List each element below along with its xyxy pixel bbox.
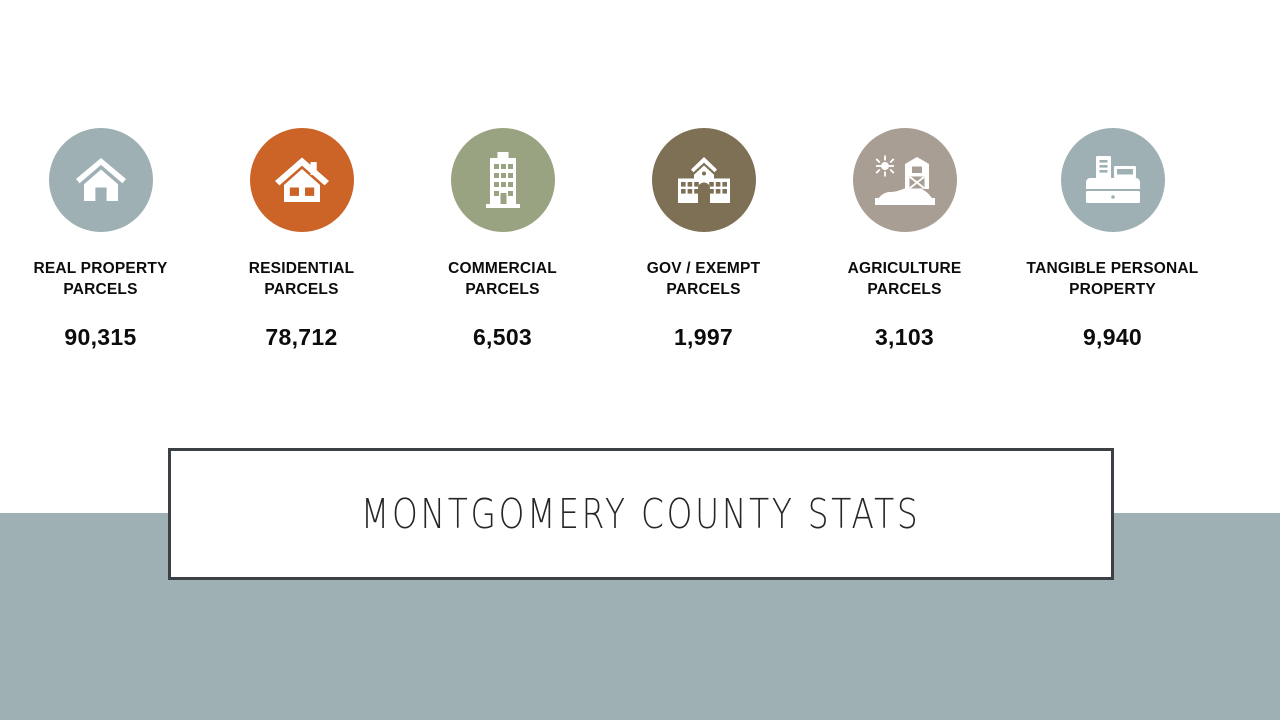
government-building-icon [676,156,732,204]
stat-value: 3,103 [875,324,934,350]
stat-item-gov-exempt[interactable]: GOV / EXEMPT PARCELS 1,997 [603,128,804,350]
icon-circle-commercial [451,128,555,232]
slide-canvas: REAL PROPERTY PARCELS 90,315 [0,0,1280,720]
stat-value: 6,503 [473,324,532,350]
stat-label: GOV / EXEMPT PARCELS [647,258,761,300]
stat-value: 9,940 [1083,324,1142,350]
stat-item-residential[interactable]: RESIDENTIAL PARCELS 78,712 [201,128,402,350]
stat-label: REAL PROPERTY PARCELS [33,258,167,300]
title-box: MONTGOMERY COUNTY STATS [168,448,1114,580]
stat-value: 78,712 [265,324,337,350]
stat-item-real-property[interactable]: REAL PROPERTY PARCELS 90,315 [0,128,201,350]
office-building-icon [482,151,524,209]
icon-circle-tangible-personal-property [1061,128,1165,232]
stat-label: AGRICULTURE PARCELS [848,258,962,300]
stat-item-commercial[interactable]: COMMERCIAL PARCELS 6,503 [402,128,603,350]
stat-item-agriculture[interactable]: AGRICULTURE PARCELS 3,103 [804,128,1005,350]
barn-farm-icon [874,154,936,206]
icon-circle-residential [250,128,354,232]
stat-label: COMMERCIAL PARCELS [448,258,557,300]
stats-row: REAL PROPERTY PARCELS 90,315 [0,128,1280,398]
stat-label: RESIDENTIAL PARCELS [249,258,355,300]
stat-value: 90,315 [64,324,136,350]
stat-item-tangible-personal-property[interactable]: TANGIBLE PERSONAL PROPERTY 9,940 [1005,128,1220,350]
page-title: MONTGOMERY COUNTY STATS [361,490,920,538]
house-outline-icon [74,156,128,204]
house-icon [274,155,330,205]
cash-register-icon [1084,154,1142,206]
stat-label: TANGIBLE PERSONAL PROPERTY [1027,258,1199,300]
icon-circle-gov-exempt [652,128,756,232]
stat-value: 1,997 [674,324,733,350]
icon-circle-real-property [49,128,153,232]
icon-circle-agriculture [853,128,957,232]
